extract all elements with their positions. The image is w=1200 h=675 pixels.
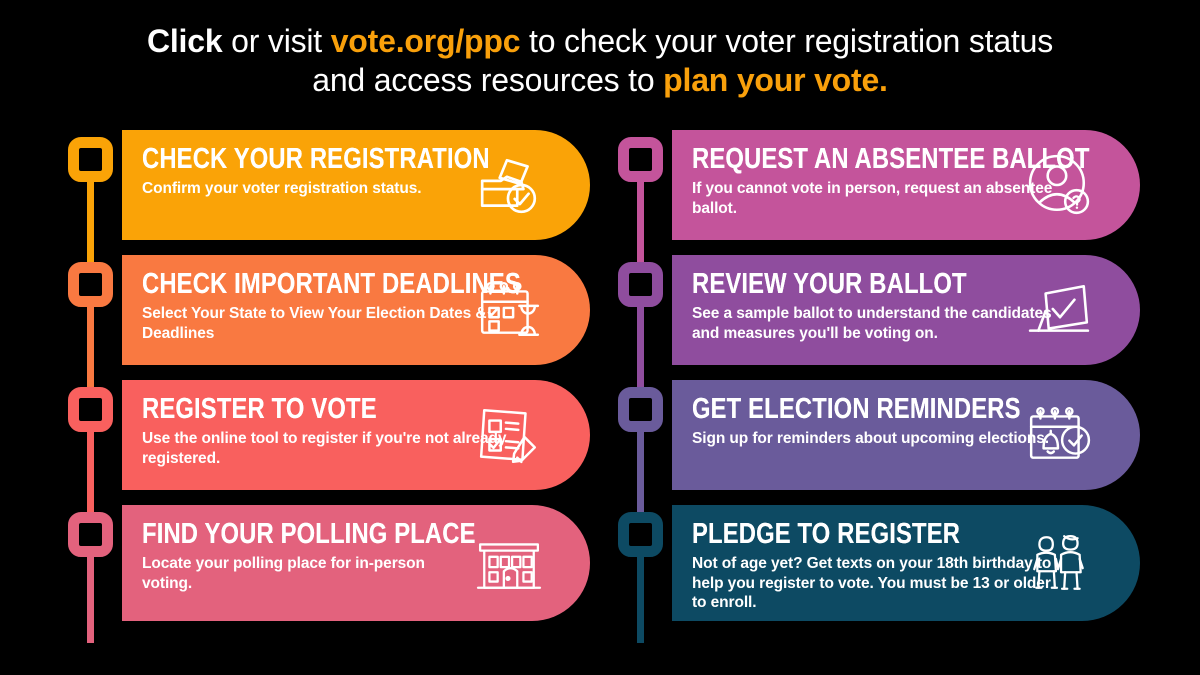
header-text-or-visit: or visit bbox=[222, 23, 330, 59]
right-card-column: REQUEST AN ABSENTEE BALLOT If you cannot… bbox=[612, 130, 1152, 635]
timeline-rail bbox=[62, 130, 118, 255]
rail-node-square bbox=[68, 512, 113, 557]
card-description: Not of age yet? Get texts on your 18th b… bbox=[692, 554, 1057, 613]
rail-node-square bbox=[618, 262, 663, 307]
card-row: CHECK YOUR REGISTRATION Confirm your vot… bbox=[62, 130, 602, 255]
card-description: Confirm your voter registration status. bbox=[142, 179, 472, 199]
card-title: REGISTER TO VOTE bbox=[142, 394, 509, 424]
timeline-rail bbox=[612, 505, 668, 635]
rail-node-square bbox=[68, 137, 113, 182]
timeline-rail bbox=[62, 255, 118, 380]
card-title: GET ELECTION REMINDERS bbox=[692, 394, 1059, 424]
header-word-click: Click bbox=[147, 23, 223, 59]
timeline-rail bbox=[612, 130, 668, 255]
card-request-an-absentee-ballot[interactable]: REQUEST AN ABSENTEE BALLOT If you cannot… bbox=[672, 130, 1140, 240]
rail-node-square bbox=[68, 387, 113, 432]
header-text-tail: to check your voter registration status bbox=[520, 23, 1053, 59]
header-line-2: and access resources to plan your vote. bbox=[0, 61, 1200, 100]
timeline-rail bbox=[612, 255, 668, 380]
plan-your-vote-link[interactable]: plan your vote. bbox=[663, 62, 888, 98]
card-register-to-vote[interactable]: REGISTER TO VOTE Use the online tool to … bbox=[122, 380, 590, 490]
rail-node-square bbox=[68, 262, 113, 307]
card-row: PLEDGE TO REGISTER Not of age yet? Get t… bbox=[612, 505, 1152, 635]
card-title: PLEDGE TO REGISTER bbox=[692, 519, 1059, 549]
card-pledge-to-register[interactable]: PLEDGE TO REGISTER Not of age yet? Get t… bbox=[672, 505, 1140, 621]
timeline-rail bbox=[62, 380, 118, 505]
card-review-your-ballot[interactable]: REVIEW YOUR BALLOT See a sample ballot t… bbox=[672, 255, 1140, 365]
rail-node-square bbox=[618, 512, 663, 557]
timeline-rail bbox=[612, 380, 668, 505]
card-title: CHECK YOUR REGISTRATION bbox=[142, 144, 509, 174]
card-description: Sign up for reminders about upcoming ele… bbox=[692, 429, 1057, 449]
card-row: REVIEW YOUR BALLOT See a sample ballot t… bbox=[612, 255, 1152, 380]
card-row: CHECK IMPORTANT DEADLINES Select Your St… bbox=[62, 255, 602, 380]
card-title: REVIEW YOUR BALLOT bbox=[692, 269, 1059, 299]
card-check-important-deadlines[interactable]: CHECK IMPORTANT DEADLINES Select Your St… bbox=[122, 255, 590, 365]
header-line-1: Click or visit vote.org/ppc to check you… bbox=[0, 22, 1200, 61]
timeline-rail bbox=[62, 505, 118, 635]
left-card-column: CHECK YOUR REGISTRATION Confirm your vot… bbox=[62, 130, 602, 635]
card-title: FIND YOUR POLLING PLACE bbox=[142, 519, 509, 549]
card-check-your-registration[interactable]: CHECK YOUR REGISTRATION Confirm your vot… bbox=[122, 130, 590, 240]
card-get-election-reminders[interactable]: GET ELECTION REMINDERS Sign up for remin… bbox=[672, 380, 1140, 490]
page-title: Click or visit vote.org/ppc to check you… bbox=[0, 22, 1200, 100]
card-description: Locate your polling place for in-person … bbox=[142, 554, 472, 593]
header-text-resources: and access resources to bbox=[312, 62, 663, 98]
rail-node-square bbox=[618, 137, 663, 182]
card-description: If you cannot vote in person, request an… bbox=[692, 179, 1057, 218]
card-row: REGISTER TO VOTE Use the online tool to … bbox=[62, 380, 602, 505]
card-row: FIND YOUR POLLING PLACE Locate your poll… bbox=[62, 505, 602, 635]
card-description: Use the online tool to register if you'r… bbox=[142, 429, 507, 468]
card-row: GET ELECTION REMINDERS Sign up for remin… bbox=[612, 380, 1152, 505]
card-description: See a sample ballot to understand the ca… bbox=[692, 304, 1057, 343]
card-find-your-polling-place[interactable]: FIND YOUR POLLING PLACE Locate your poll… bbox=[122, 505, 590, 621]
card-title: CHECK IMPORTANT DEADLINES bbox=[142, 269, 509, 299]
card-row: REQUEST AN ABSENTEE BALLOT If you cannot… bbox=[612, 130, 1152, 255]
rail-node-square bbox=[618, 387, 663, 432]
vote-org-link[interactable]: vote.org/ppc bbox=[331, 23, 521, 59]
card-description: Select Your State to View Your Election … bbox=[142, 304, 507, 343]
card-title: REQUEST AN ABSENTEE BALLOT bbox=[692, 144, 1059, 174]
